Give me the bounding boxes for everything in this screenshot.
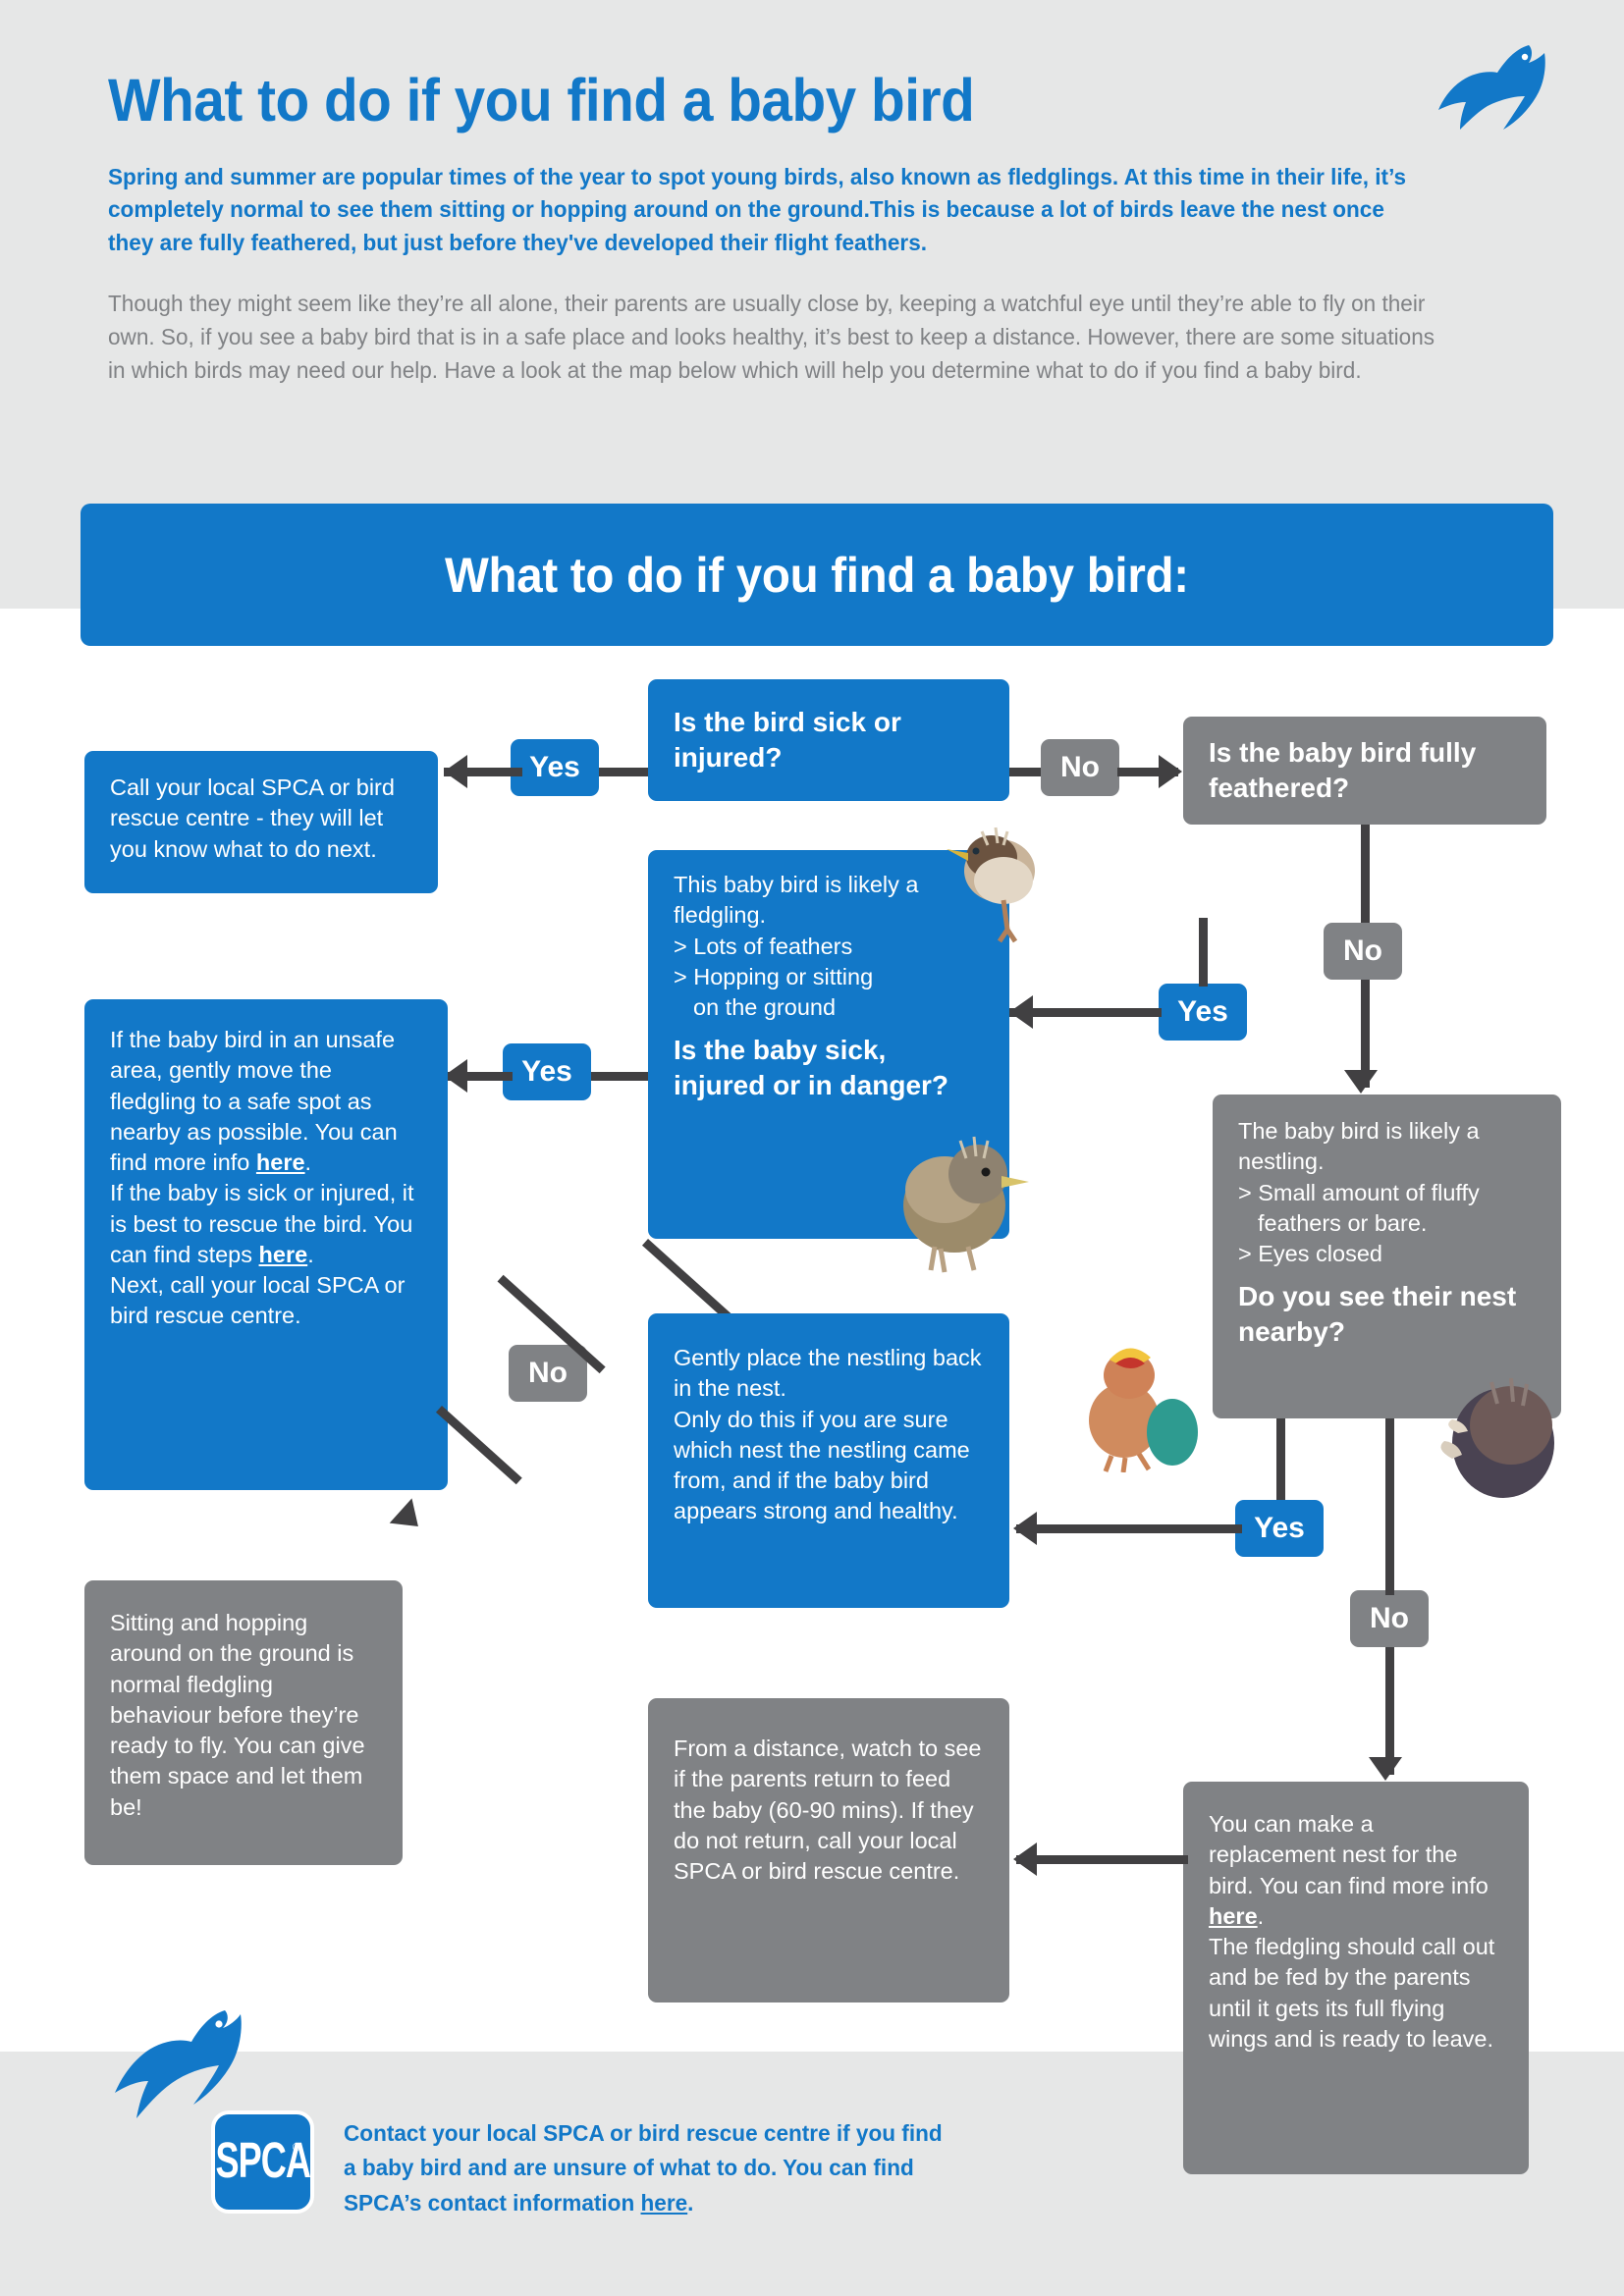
footer-block: SPCA ® Contact your local SPCA or bird r… (211, 2110, 972, 2220)
nestling-question: Do you see their nest nearby? (1238, 1279, 1536, 1350)
label-q1-no[interactable]: No (1041, 739, 1119, 796)
label-q3-no[interactable]: No (509, 1345, 587, 1402)
connector-replacement-to-watch (1016, 1855, 1188, 1864)
arrow-to-fledgling-box (1009, 995, 1033, 1029)
connector-q2-yes-vert (1199, 918, 1208, 987)
label-q2-no[interactable]: No (1324, 923, 1402, 980)
label-q2-no-text: No (1343, 934, 1382, 968)
label-q3-yes-text: Yes (521, 1055, 572, 1089)
connector-q4-no-vert-mid (1385, 1512, 1394, 1595)
node-make-replacement-nest[interactable]: You can make a replacement nest for the … (1183, 1782, 1529, 2174)
node-q2-fully-feathered[interactable]: Is the baby bird fully feathered? (1183, 717, 1546, 825)
connector-q2-no-vert-top (1361, 825, 1370, 923)
node-q1-text: Is the bird sick or injured? (674, 705, 984, 776)
footer-here-link[interactable]: here (641, 2190, 688, 2216)
fledgling-bullet-1: > Lots of feathers (674, 932, 984, 962)
spca-logo: SPCA ® (211, 2110, 314, 2214)
label-q2-yes-text: Yes (1177, 995, 1228, 1029)
nestling-dark-photo (1429, 1364, 1566, 1522)
arrow-to-place-back-in-nest (1013, 1512, 1037, 1545)
node-place-nestling-back[interactable]: Gently place the nestling back in the ne… (648, 1313, 1009, 1608)
fledgling-thrush-photo (884, 1119, 1031, 1276)
unsafe-text-1-end: . (305, 1149, 312, 1175)
node-watch-from-distance[interactable]: From a distance, watch to see if the par… (648, 1698, 1009, 2002)
arrow-to-sitting-hopping-box (390, 1498, 430, 1538)
label-q1-yes[interactable]: Yes (511, 739, 599, 796)
arrow-to-nestling-box (1344, 1070, 1378, 1094)
unsafe-link-1[interactable]: here (256, 1149, 305, 1175)
label-q1-no-text: No (1060, 751, 1100, 784)
connector-q4-no-vert-bottom (1385, 1647, 1394, 1775)
footer-contact-text: Contact your local SPCA or bird rescue c… (344, 2110, 947, 2220)
replacement-text-1: You can make a replacement nest for the … (1209, 1811, 1489, 1898)
spca-registered-mark: ® (293, 2142, 300, 2154)
node-call-local-spca[interactable]: Call your local SPCA or bird rescue cent… (84, 751, 438, 893)
place-back-line-1: Gently place the nestling back in the ne… (674, 1343, 984, 1405)
label-q3-yes[interactable]: Yes (503, 1043, 591, 1100)
arrow-to-call-spca (444, 755, 467, 788)
label-q2-yes[interactable]: Yes (1159, 984, 1247, 1041)
fledgling-question: Is the baby sick, injured or in danger? (674, 1033, 984, 1103)
replacement-text-1-end: . (1258, 1903, 1265, 1929)
place-back-line-2: Only do this if you are sure which nest … (674, 1405, 984, 1527)
replacement-link[interactable]: here (1209, 1903, 1258, 1929)
nestling-gaping-photo (1070, 1330, 1198, 1472)
label-q3-no-text: No (528, 1357, 568, 1390)
arrow-to-q2 (1159, 755, 1182, 788)
label-q4-yes-text: Yes (1254, 1512, 1305, 1545)
unsafe-text-1: If the baby bird in an unsafe area, gent… (110, 1027, 398, 1175)
node-move-fledgling-safe-spot[interactable]: If the baby bird in an unsafe area, gent… (84, 999, 448, 1490)
arrow-to-replacement-nest (1369, 1757, 1402, 1781)
node-call-local-spca-text: Call your local SPCA or bird rescue cent… (110, 774, 395, 862)
unsafe-text-2-end: . (307, 1242, 314, 1267)
fledgling-intro: This baby bird is likely a fledgling. (674, 870, 984, 932)
label-q4-no[interactable]: No (1350, 1590, 1429, 1647)
flowchart: Is the bird sick or injured? Yes Call yo… (0, 0, 1624, 2296)
sitting-hopping-text: Sitting and hopping around on the ground… (110, 1610, 365, 1820)
nestling-bullet-1: > Small amount of fluffy feathers or bar… (1238, 1178, 1536, 1240)
nestling-intro: The baby bird is likely a nestling. (1238, 1116, 1536, 1178)
connector-q4-no-vert-top (1385, 1418, 1394, 1526)
connector-q4-yes-to-outcome (1016, 1524, 1242, 1533)
label-q4-no-text: No (1370, 1602, 1409, 1635)
label-q4-yes[interactable]: Yes (1235, 1500, 1324, 1557)
node-q2-text: Is the baby bird fully feathered? (1209, 735, 1521, 807)
fledgling-bullet-2: > Hopping or sitting on the ground (674, 962, 984, 1024)
connector-nestling-down-yes (1276, 1418, 1285, 1507)
replacement-text-2: The fledgling should call out and be fed… (1209, 1932, 1503, 2055)
fledgling-wren-photo (943, 820, 1060, 947)
unsafe-text-3: Next, call your local SPCA or bird rescu… (110, 1270, 422, 1332)
unsafe-link-2[interactable]: here (259, 1242, 308, 1267)
arrow-to-watch-from-distance (1013, 1842, 1037, 1876)
node-sitting-hopping-normal[interactable]: Sitting and hopping around on the ground… (84, 1580, 403, 1865)
label-q1-yes-text: Yes (529, 751, 580, 784)
footer-text-end: . (687, 2190, 693, 2216)
watch-from-distance-text: From a distance, watch to see if the par… (674, 1735, 981, 1884)
nestling-bullet-2: > Eyes closed (1238, 1239, 1536, 1269)
node-q1-bird-sick-or-injured[interactable]: Is the bird sick or injured? (648, 679, 1009, 801)
connector-q3-no-diagonal-lower-2 (436, 1406, 522, 1484)
